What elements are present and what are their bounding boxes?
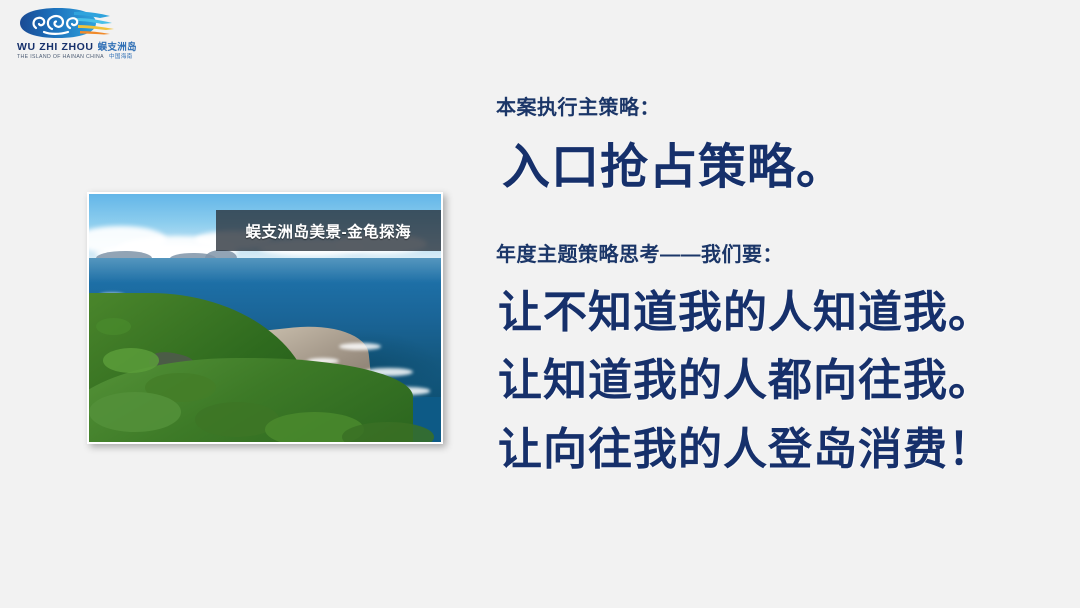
logo-latin-name: WU ZHI ZHOU — [17, 42, 94, 53]
brand-logo: WU ZHI ZHOU 蜈支洲岛 THE ISLAND OF HAINAN CH… — [14, 6, 134, 66]
presentation-slide: WU ZHI ZHOU 蜈支洲岛 THE ISLAND OF HAINAN CH… — [0, 0, 1080, 608]
wuzhizhou-wave-logo-icon — [14, 6, 124, 40]
statement-line-2: 让知道我的人都向往我。 — [498, 357, 1056, 405]
photo-caption-text: 蜈支洲岛美景-金龟探海 — [246, 220, 412, 242]
logo-latin-tagline: THE ISLAND OF HAINAN CHINA — [17, 55, 104, 60]
eyebrow-main-strategy: 本案执行主策略： — [496, 96, 1056, 120]
photo-bush — [89, 392, 181, 432]
logo-wordmark: WU ZHI ZHOU 蜈支洲岛 — [17, 42, 137, 53]
headline-main-strategy: 入口抢占策略。 — [502, 142, 1056, 195]
strategy-text-column: 本案执行主策略： 入口抢占策略。 年度主题策略思考——我们要： 让不知道我的人知… — [496, 96, 1056, 474]
scenery-photo: 蜈支洲岛美景-金龟探海 — [89, 194, 441, 442]
photo-bush — [342, 422, 434, 442]
photo-bush — [103, 348, 159, 373]
statement-line-1: 让不知道我的人知道我。 — [498, 289, 1056, 337]
photo-caption-banner: 蜈支洲岛美景-金龟探海 — [216, 210, 441, 251]
eyebrow-annual-theme: 年度主题策略思考——我们要： — [496, 243, 1056, 267]
statement-line-3: 让向往我的人登岛消费！ — [498, 426, 1056, 474]
logo-chinese-tagline: 中国海南 — [109, 55, 133, 61]
logo-tagline: THE ISLAND OF HAINAN CHINA 中国海南 — [17, 55, 133, 61]
scenery-photo-frame: 蜈支洲岛美景-金龟探海 — [87, 192, 443, 444]
logo-chinese-name: 蜈支洲岛 — [98, 43, 137, 53]
photo-sea-shimmer — [89, 258, 441, 283]
